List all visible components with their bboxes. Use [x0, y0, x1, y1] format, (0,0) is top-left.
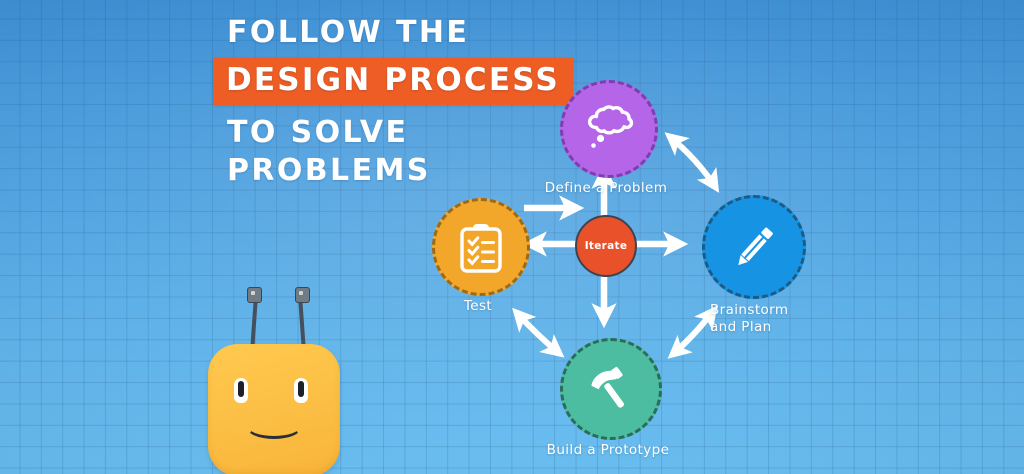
node-define-a-problem-label: Define a Problem [512, 180, 700, 197]
robot-antenna-tip-left [247, 287, 262, 303]
node-build-a-prototype-label: Build a Prototype [514, 442, 702, 459]
node-test-label: Test [434, 298, 522, 315]
hammer-icon [585, 363, 637, 415]
node-iterate[interactable]: Iterate [575, 215, 637, 277]
node-test[interactable] [432, 198, 530, 296]
arrow-brainstorm-prototype [672, 310, 714, 355]
node-brainstorm-and-plan[interactable] [702, 195, 806, 299]
node-brainstorm-and-plan-label: Brainstorm and Plan [710, 302, 840, 336]
node-iterate-label: Iterate [585, 240, 628, 252]
arrow-prototype-test [516, 312, 560, 354]
robot-smile [246, 414, 302, 439]
thought-cloud-icon [583, 105, 635, 153]
headline-line-1: FOLLOW THE [213, 18, 613, 48]
robot-eye-right [294, 378, 308, 403]
clipboard-checklist-icon [457, 221, 505, 273]
pencil-icon [726, 219, 782, 275]
design-process-diagram: Define a Problem Brainstorm and Plan [420, 60, 840, 474]
robot-head [208, 344, 340, 474]
node-build-a-prototype[interactable] [560, 338, 662, 440]
node-define-a-problem[interactable] [560, 80, 658, 178]
robot-eye-left [234, 378, 248, 403]
robot-antenna-tip-right [295, 287, 310, 303]
infographic-canvas: FOLLOW THE DESIGN PROCESS TO SOLVE PROBL… [0, 0, 1024, 474]
